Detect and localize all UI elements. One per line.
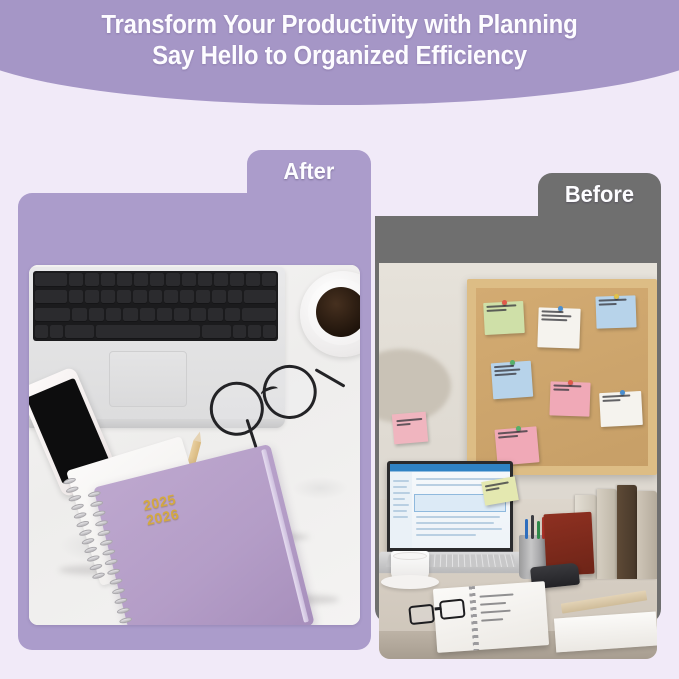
sticky-note	[599, 391, 643, 427]
after-panel: After	[18, 150, 371, 650]
sticky-note	[595, 295, 636, 328]
corkboard	[467, 279, 657, 475]
binder	[597, 489, 617, 579]
binder	[637, 491, 657, 579]
eyeglasses	[210, 353, 341, 453]
planner-year-label: 2025 2026	[142, 492, 181, 528]
page-title: Transform Your Productivity with Plannin…	[20, 10, 658, 72]
after-photo: 2025 2026	[29, 265, 360, 625]
title-line-1: Transform Your Productivity with Plannin…	[101, 11, 577, 39]
after-panel-body: 2025 2026	[18, 193, 371, 650]
push-pin	[516, 426, 521, 431]
eyeglass-lens-left	[206, 378, 267, 439]
cup-rim	[393, 552, 427, 560]
poster-canvas: Transform Your Productivity with Plannin…	[0, 0, 679, 679]
after-tab-label: After	[283, 158, 334, 187]
paper-pile	[554, 611, 657, 652]
sticky-note	[549, 381, 590, 416]
sticky-note	[491, 361, 533, 400]
header-banner: Transform Your Productivity with Plannin…	[0, 0, 679, 105]
coffee-liquid	[316, 287, 360, 337]
laptop-trackpad	[109, 351, 187, 407]
after-tab[interactable]: After	[247, 150, 371, 194]
email-inbox-screen	[390, 464, 510, 548]
sticky-note	[483, 301, 525, 335]
push-pin	[502, 300, 507, 305]
laptop-keyboard	[33, 271, 278, 341]
wall-sticky-note	[392, 412, 428, 445]
push-pin	[510, 360, 515, 365]
sticky-note	[495, 426, 540, 466]
push-pin	[568, 380, 573, 385]
before-photo	[379, 263, 657, 659]
before-panel-body	[375, 216, 661, 623]
binder	[617, 485, 637, 579]
before-tab[interactable]: Before	[538, 173, 661, 217]
push-pin	[620, 390, 625, 395]
title-line-2: Say Hello to Organized Efficiency	[20, 41, 658, 72]
push-pin	[558, 306, 563, 311]
before-panel: Before	[375, 173, 661, 623]
push-pin	[614, 294, 619, 299]
sticky-note	[537, 307, 580, 348]
coffee-saucer	[381, 575, 439, 589]
before-tab-label: Before	[565, 181, 634, 210]
laptop-screen	[387, 461, 513, 553]
